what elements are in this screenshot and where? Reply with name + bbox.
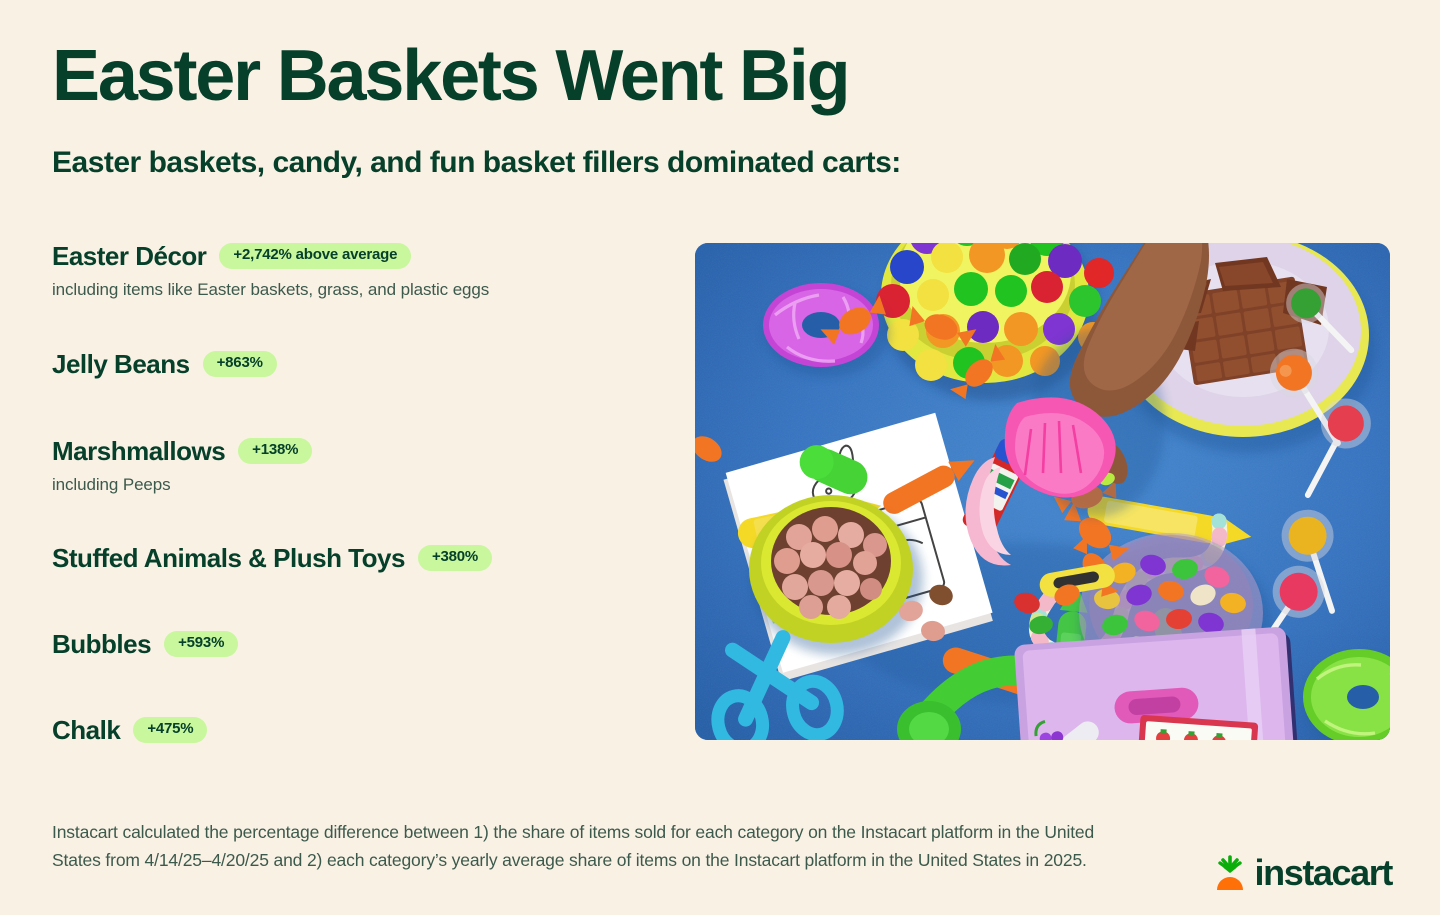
list-item-header: Stuffed Animals & Plush Toys +380% <box>52 540 662 576</box>
spacer <box>52 576 662 626</box>
list-item: Stuffed Animals & Plush Toys +380% <box>52 540 662 576</box>
category-name: Bubbles <box>52 629 151 660</box>
status-badge: +380% <box>418 545 492 571</box>
list-item-header: Bubbles +593% <box>52 626 662 662</box>
list-item: Jelly Beans +863% <box>52 346 662 382</box>
category-name: Jelly Beans <box>52 349 190 380</box>
spacer <box>52 300 662 346</box>
status-badge: +593% <box>164 631 238 657</box>
category-note: including Peeps <box>52 475 662 495</box>
category-name: Chalk <box>52 715 120 746</box>
page-title: Easter Baskets Went Big <box>52 40 848 112</box>
list-item-header: Marshmallows +138% <box>52 433 662 469</box>
list-item-header: Chalk +475% <box>52 712 662 748</box>
methodology-footnote: Instacart calculated the percentage diff… <box>52 818 1112 875</box>
spacer <box>52 495 662 540</box>
status-badge: +475% <box>133 717 207 743</box>
status-badge: +138% <box>238 438 312 464</box>
category-name: Easter Décor <box>52 241 206 272</box>
instacart-logo: instacart <box>1214 855 1392 891</box>
infographic-page: Easter Baskets Went Big Easter baskets, … <box>0 0 1440 915</box>
hero-photo <box>695 243 1390 740</box>
list-item: Marshmallows +138% including Peeps <box>52 433 662 495</box>
list-item-header: Easter Décor +2,742% above average <box>52 238 662 274</box>
category-name: Marshmallows <box>52 436 225 467</box>
spacer <box>52 382 662 433</box>
list-item: Bubbles +593% <box>52 626 662 662</box>
status-badge: +2,742% above average <box>219 243 411 269</box>
category-note: including items like Easter baskets, gra… <box>52 280 662 300</box>
instacart-wordmark: instacart <box>1255 855 1392 891</box>
carrot-icon <box>1214 855 1248 891</box>
status-badge: +863% <box>203 351 277 377</box>
list-item-header: Jelly Beans +863% <box>52 346 662 382</box>
list-item: Chalk +475% <box>52 712 662 748</box>
list-item: Easter Décor +2,742% above average inclu… <box>52 238 662 300</box>
hero-photo-illustration <box>695 243 1390 740</box>
category-list: Easter Décor +2,742% above average inclu… <box>52 238 662 748</box>
page-subtitle: Easter baskets, candy, and fun basket fi… <box>52 145 901 181</box>
spacer <box>52 662 662 712</box>
category-name: Stuffed Animals & Plush Toys <box>52 543 405 574</box>
